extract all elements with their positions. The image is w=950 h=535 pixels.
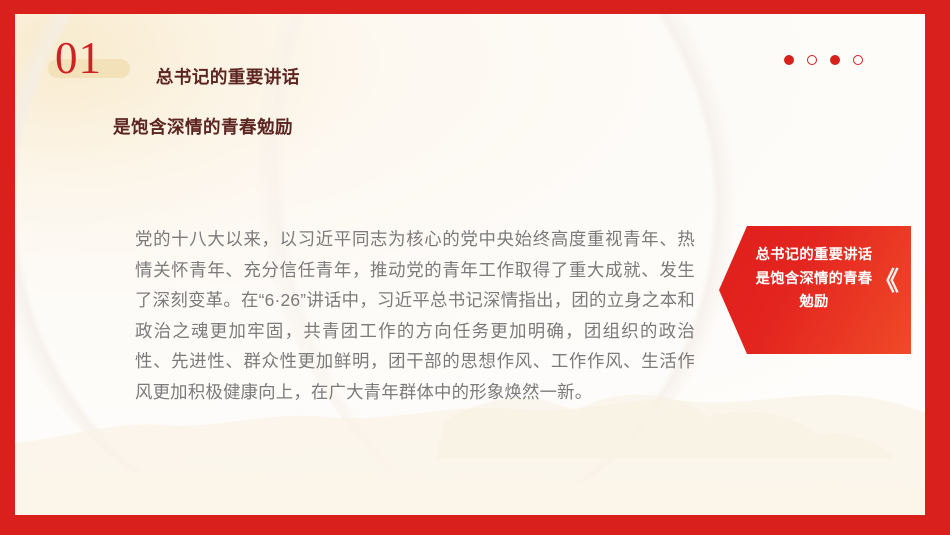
- slide-root: 01 总书记的重要讲话 是饱含深情的青春勉励 党的十八大以来，以习近平同志为核心…: [0, 0, 950, 535]
- pagination-dot-2[interactable]: [807, 55, 817, 65]
- pagination-dots[interactable]: [784, 55, 863, 65]
- page-title-line1: 总书记的重要讲话: [156, 67, 300, 87]
- pagination-dot-4[interactable]: [853, 55, 863, 65]
- pagination-dot-3[interactable]: [830, 55, 840, 65]
- slide-header: 01 总书记的重要讲话 是饱含深情的青春勉励: [15, 14, 925, 96]
- callout-banner: 总书记的重要讲话 是饱含深情的青春勉励 《: [719, 226, 911, 354]
- slide-canvas: 01 总书记的重要讲话 是饱含深情的青春勉励 党的十八大以来，以习近平同志为核心…: [15, 14, 925, 515]
- pagination-dot-1[interactable]: [784, 55, 794, 65]
- page-title-line2: 是饱含深情的青春勉励: [113, 115, 300, 140]
- body-paragraph: 党的十八大以来，以习近平同志为核心的党中央始终高度重视青年、热情关怀青年、充分信…: [135, 224, 695, 407]
- quote-open-icon: 《: [873, 268, 899, 294]
- callout-text: 总书记的重要讲话 是饱含深情的青春勉励: [753, 244, 875, 315]
- page-title: 总书记的重要讲话 是饱含深情的青春勉励: [113, 40, 300, 190]
- section-number: 01: [55, 36, 102, 81]
